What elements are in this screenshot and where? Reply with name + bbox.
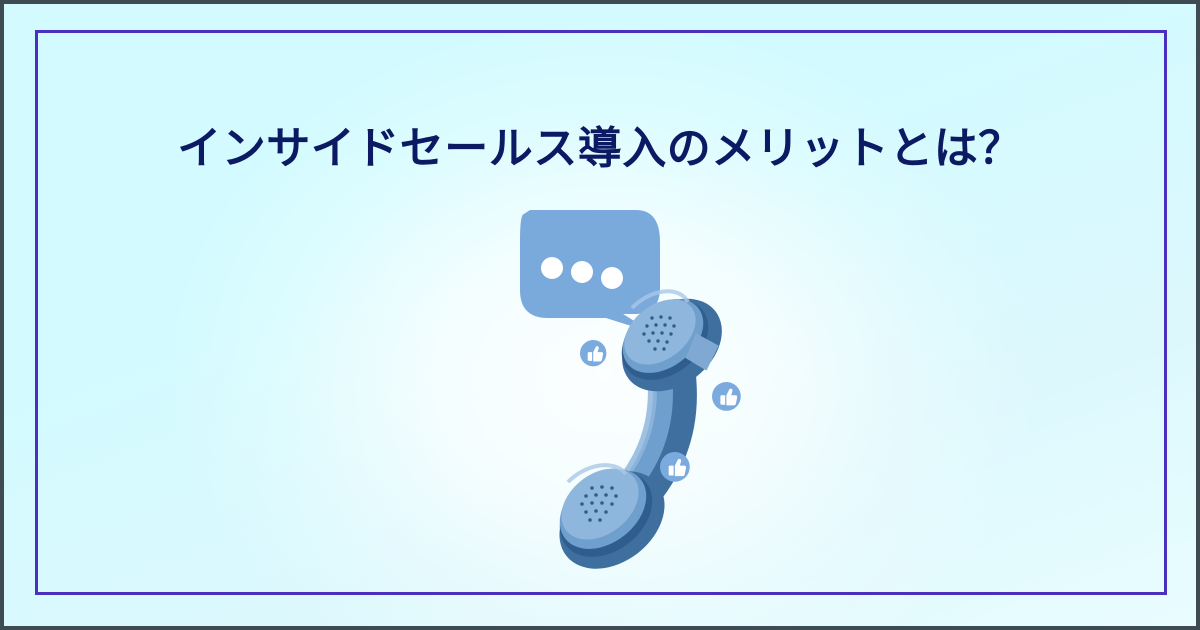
speech-bubble-icon: [520, 210, 660, 330]
bubble-dot: [541, 257, 563, 279]
thumbs-up-badge-icon: [580, 340, 606, 366]
thumbs-up-badge-icon: [660, 452, 690, 482]
bubble-dot: [571, 261, 593, 283]
telephone-handset-icon: [540, 280, 740, 580]
bubble-dot: [601, 267, 623, 289]
poster-canvas: インサイドセールス導入のメリットとは？: [0, 0, 1200, 630]
inside-sales-illustration: [420, 190, 800, 580]
page-title: インサイドセールス導入のメリットとは？: [0, 112, 1200, 176]
thumbs-up-badge-icon: [712, 382, 741, 411]
